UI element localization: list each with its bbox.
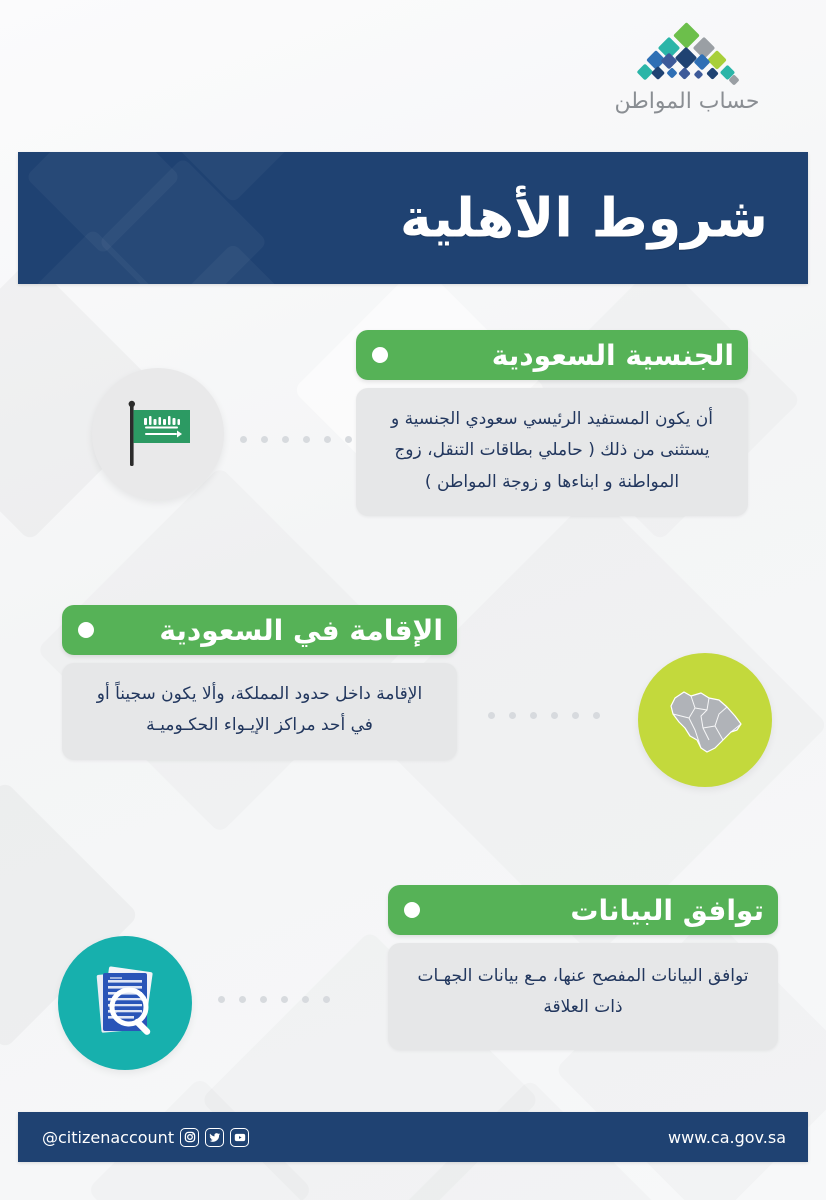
instagram-icon[interactable] — [180, 1128, 199, 1147]
section-heading-pill: الإقامة في السعودية — [62, 605, 457, 655]
section-heading-label: الإقامة في السعودية — [94, 614, 457, 647]
section-heading-pill: توافق البيانات — [388, 885, 778, 935]
section-body-box: الإقامة داخل حدود المملكة، وألا يكون سجي… — [62, 663, 457, 760]
section-body-box: توافق البيانات المفصح عنها، مـع بيانات ا… — [388, 943, 778, 1050]
connector-dots — [200, 996, 330, 1003]
saudi-map-glyph — [657, 678, 753, 762]
section-body-box: أن يكون المستفيد الرئيسي سعودي الجنسية و… — [356, 388, 748, 516]
brand-logo-text: حساب المواطن — [582, 90, 792, 114]
connector-dots — [470, 712, 600, 719]
document-magnifier-glyph — [79, 957, 171, 1049]
section-body-text: أن يكون المستفيد الرئيسي سعودي الجنسية و… — [378, 404, 726, 498]
footer-social-handle: @citizenaccount — [42, 1128, 174, 1147]
section-heading-label: الجنسية السعودية — [388, 339, 748, 372]
connector-dots — [222, 436, 352, 443]
section-heading-label: توافق البيانات — [420, 894, 778, 927]
infographic-page: حساب المواطن شروط الأهلية الجنسية السعود… — [0, 0, 826, 1200]
footer-website-url[interactable]: www.ca.gov.sa — [668, 1128, 786, 1147]
section-body-text: الإقامة داخل حدود المملكة، وألا يكون سجي… — [84, 679, 435, 742]
section-data-matching: توافق البيانات توافق البيانات المفصح عنه… — [388, 885, 778, 1050]
section-heading-pill: الجنسية السعودية — [356, 330, 748, 380]
citizen-account-mosaic-logo-icon — [632, 26, 742, 86]
bullet-dot-icon — [404, 902, 420, 918]
section-body-text: توافق البيانات المفصح عنها، مـع بيانات ا… — [410, 961, 756, 1024]
brand-logo: حساب المواطن — [582, 26, 792, 114]
page-title-banner: شروط الأهلية — [18, 152, 808, 284]
saudi-flag-icon — [92, 368, 224, 500]
twitter-icon[interactable] — [205, 1128, 224, 1147]
bullet-dot-icon — [78, 622, 94, 638]
footer-social-group: @citizenaccount — [40, 1128, 249, 1147]
section-saudi-nationality: الجنسية السعودية أن يكون المستفيد الرئيس… — [356, 330, 748, 516]
page-title: شروط الأهلية — [400, 187, 768, 250]
footer-bar: www.ca.gov.sa @citizenaccount — [18, 1112, 808, 1162]
saudi-flag-glyph — [116, 396, 200, 472]
youtube-icon[interactable] — [230, 1128, 249, 1147]
saudi-map-icon — [638, 653, 772, 787]
bullet-dot-icon — [372, 347, 388, 363]
section-residence-in-saudi: الإقامة في السعودية الإقامة داخل حدود ال… — [62, 605, 457, 760]
document-magnifier-icon — [58, 936, 192, 1070]
